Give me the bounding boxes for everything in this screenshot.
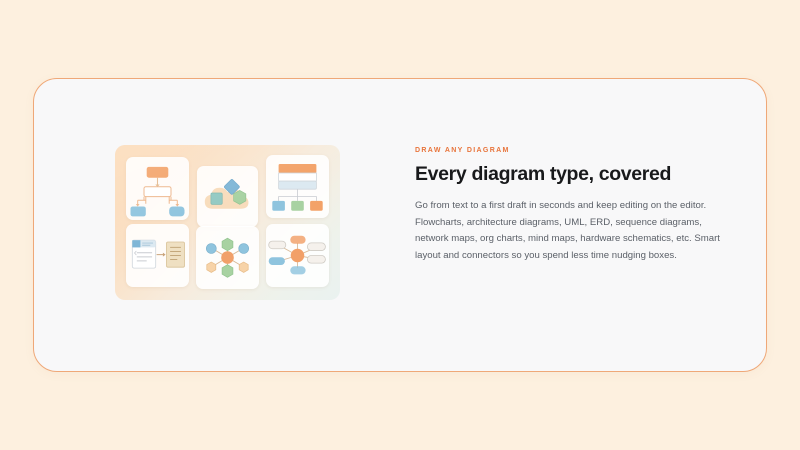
- erd-table-icon: [266, 155, 329, 218]
- diagram-card-mind-map: [266, 224, 329, 287]
- text-to-document-icon: [126, 224, 189, 287]
- diagram-card-flowchart: [126, 157, 189, 220]
- network-hub-icon: [196, 226, 259, 289]
- cloud-architecture-icon: [197, 166, 258, 227]
- feature-card: DRAW ANY DIAGRAM Every diagram type, cov…: [33, 78, 767, 372]
- diagram-card-erd-table: [266, 155, 329, 218]
- feature-copy: DRAW ANY DIAGRAM Every diagram type, cov…: [415, 147, 731, 264]
- page-title: Every diagram type, covered: [415, 163, 731, 186]
- body-text: Go from text to a first draft in seconds…: [415, 198, 723, 264]
- eyebrow-label: DRAW ANY DIAGRAM: [415, 147, 731, 154]
- diagram-card-network-hub: [196, 226, 259, 289]
- diagram-card-grid: [126, 155, 329, 288]
- feature-card-inner: DRAW ANY DIAGRAM Every diagram type, cov…: [34, 79, 766, 371]
- diagram-card-text-to-document: [126, 224, 189, 287]
- mind-map-icon: [266, 224, 329, 287]
- illustration-container: [115, 145, 340, 300]
- illustration-gradient-panel: [115, 145, 340, 300]
- diagram-card-cloud-architecture: [197, 166, 258, 227]
- flowchart-icon: [126, 157, 189, 220]
